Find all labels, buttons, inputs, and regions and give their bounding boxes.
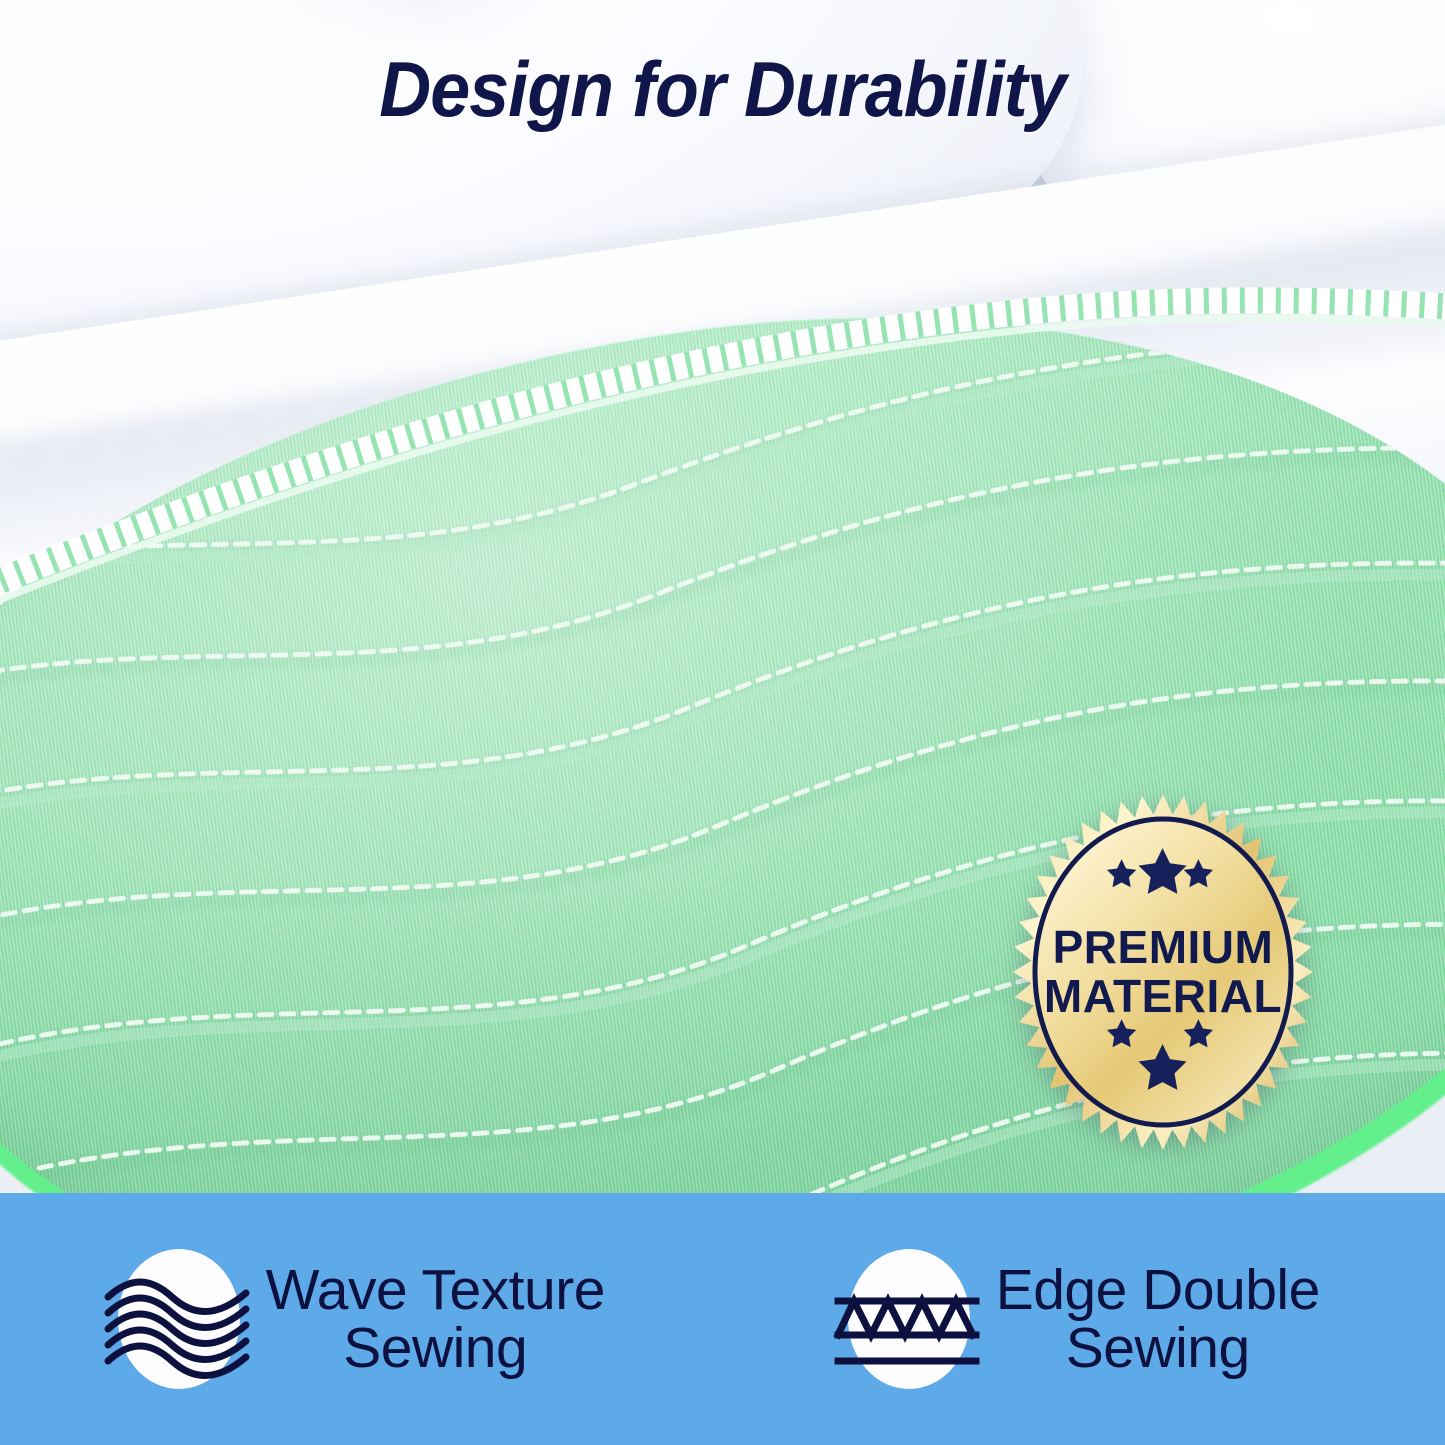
wave-lines-icon — [118, 1249, 240, 1389]
page-title: Design for Durability — [58, 44, 1387, 135]
feature-bar: Wave Texture Sewing Edge Double Sewing — [0, 1193, 1445, 1445]
feature-edge-double-label: Edge Double Sewing — [996, 1261, 1320, 1377]
product-infographic: Design for Durability — [0, 0, 1445, 1445]
wave-lines-icon-glyph — [112, 1249, 246, 1389]
feature-edge-double-sewing: Edge Double Sewing — [723, 1249, 1445, 1389]
feature-edge-double-line-1: Edge Double — [996, 1261, 1320, 1319]
zigzag-stitch-icon — [848, 1249, 970, 1389]
zigzag-stitch-icon-glyph — [842, 1249, 976, 1389]
premium-material-badge: PREMIUM MATERIAL — [1008, 792, 1318, 1152]
feature-wave-texture-sewing: Wave Texture Sewing — [0, 1249, 723, 1389]
feature-wave-texture-line-2: Sewing — [266, 1319, 605, 1377]
feature-wave-texture-line-1: Wave Texture — [266, 1261, 605, 1319]
feature-edge-double-line-2: Sewing — [996, 1319, 1320, 1377]
badge-starburst-shape — [1008, 792, 1318, 1152]
feature-wave-texture-label: Wave Texture Sewing — [266, 1261, 605, 1377]
